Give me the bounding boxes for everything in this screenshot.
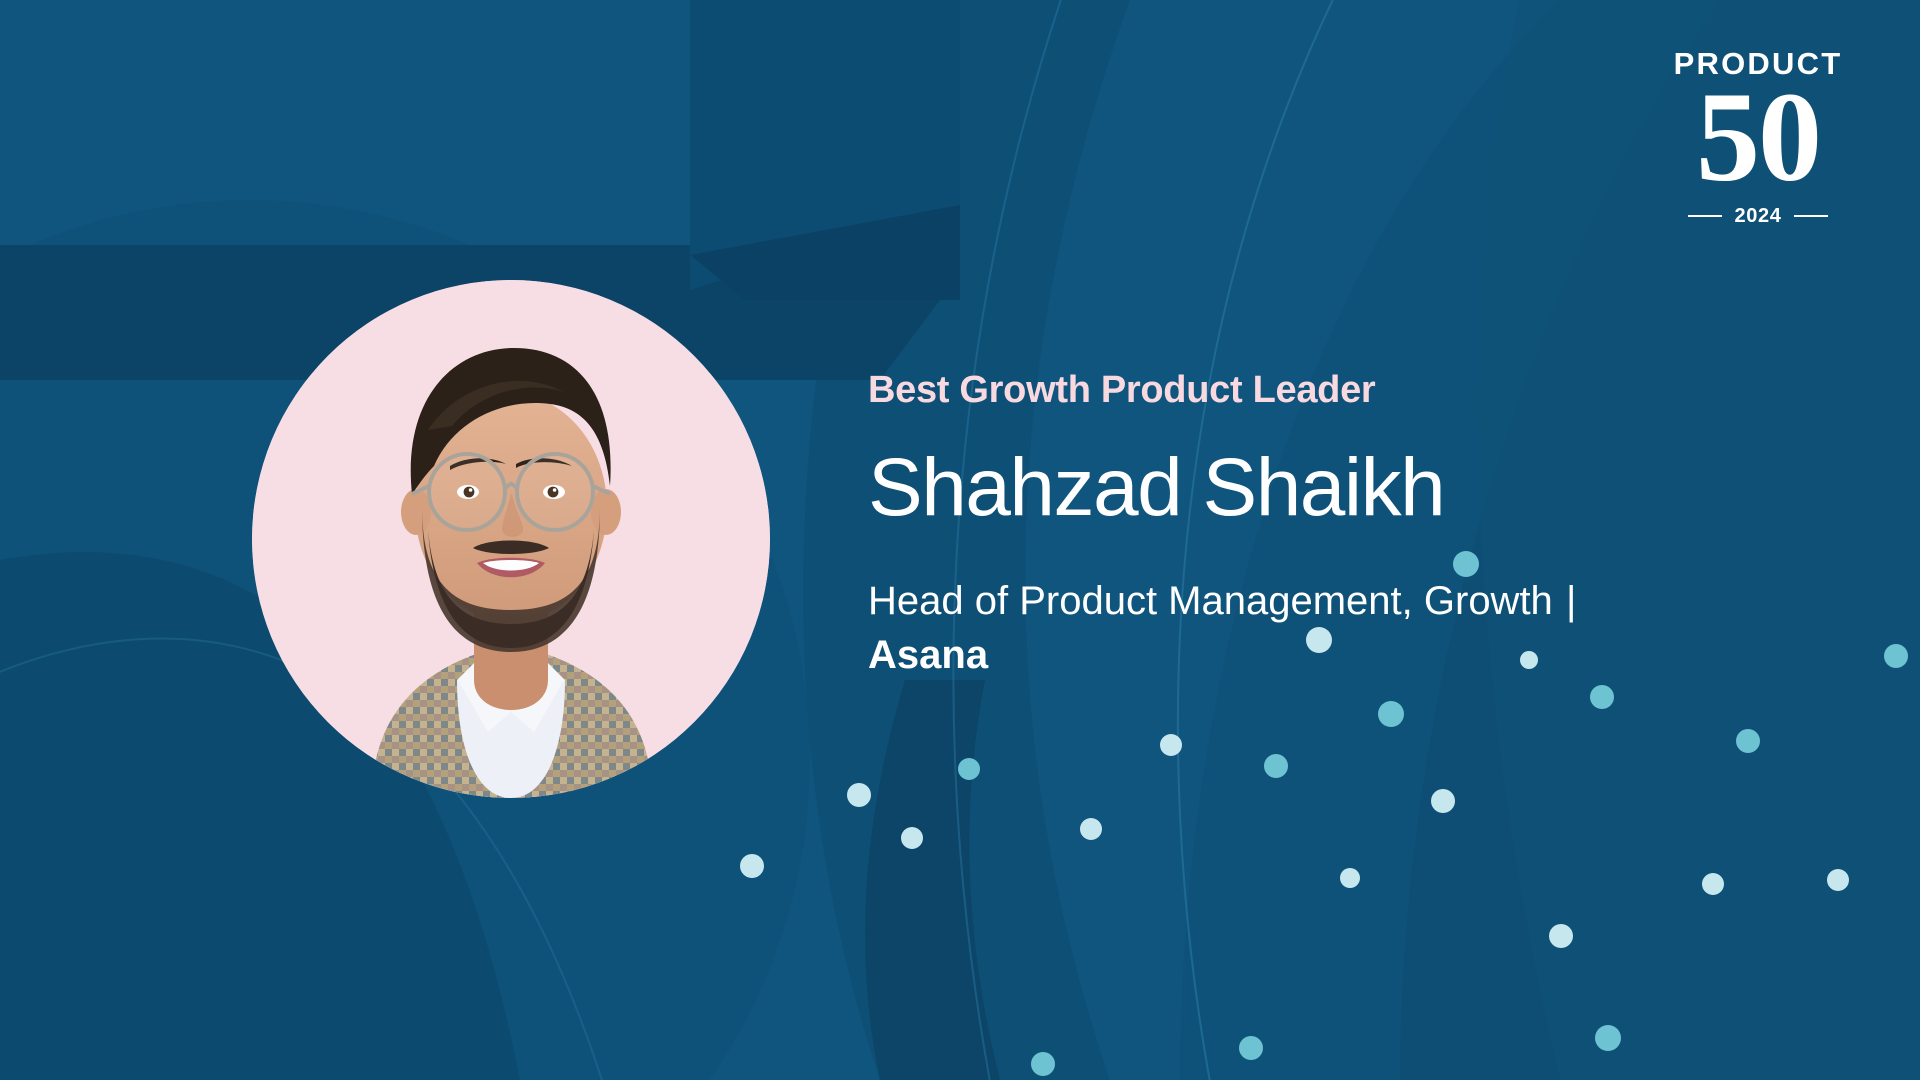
company-name: Asana [868, 633, 988, 677]
award-text-block: Best Growth Product Leader Shahzad Shaik… [868, 370, 1768, 683]
person-role-title: Head of Product Management, Growth [868, 579, 1553, 623]
decorative-dot [1590, 685, 1614, 709]
decorative-dot [1736, 729, 1760, 753]
avatar [252, 280, 770, 798]
person-name: Shahzad Shaikh [868, 446, 1768, 530]
decorative-dot [1264, 754, 1288, 778]
logo-rule-right [1794, 215, 1828, 217]
logo-year: 2024 [1735, 206, 1782, 226]
decorative-dot [1549, 924, 1573, 948]
decorative-dot [1378, 701, 1404, 727]
decorative-dot [847, 783, 871, 807]
decorative-dot [1080, 818, 1102, 840]
decorative-dot [1827, 869, 1849, 891]
award-announcement-card: Best Growth Product Leader Shahzad Shaik… [0, 0, 1920, 1080]
decorative-dot [901, 827, 923, 849]
decorative-dot [740, 854, 764, 878]
headshot-illustration [252, 280, 770, 798]
person-role: Head of Product Management, Growth | Asa… [868, 575, 1628, 682]
decorative-dot [958, 758, 980, 780]
decorative-dot [1160, 734, 1182, 756]
decorative-dot [1239, 1036, 1263, 1060]
award-category: Best Growth Product Leader [868, 370, 1768, 412]
decorative-dot [1340, 868, 1360, 888]
logo-number-50: 50 [1658, 81, 1858, 194]
logo-year-row: 2024 [1658, 206, 1858, 226]
decorative-dot [1595, 1025, 1621, 1051]
logo-rule-left [1688, 215, 1722, 217]
product-50-logo: PRODUCT 50 2024 [1658, 48, 1858, 226]
role-separator: | [1564, 579, 1578, 623]
decorative-dot [1031, 1052, 1055, 1076]
decorative-dot [1884, 644, 1908, 668]
decorative-dot [1431, 789, 1455, 813]
decorative-dot [1702, 873, 1724, 895]
